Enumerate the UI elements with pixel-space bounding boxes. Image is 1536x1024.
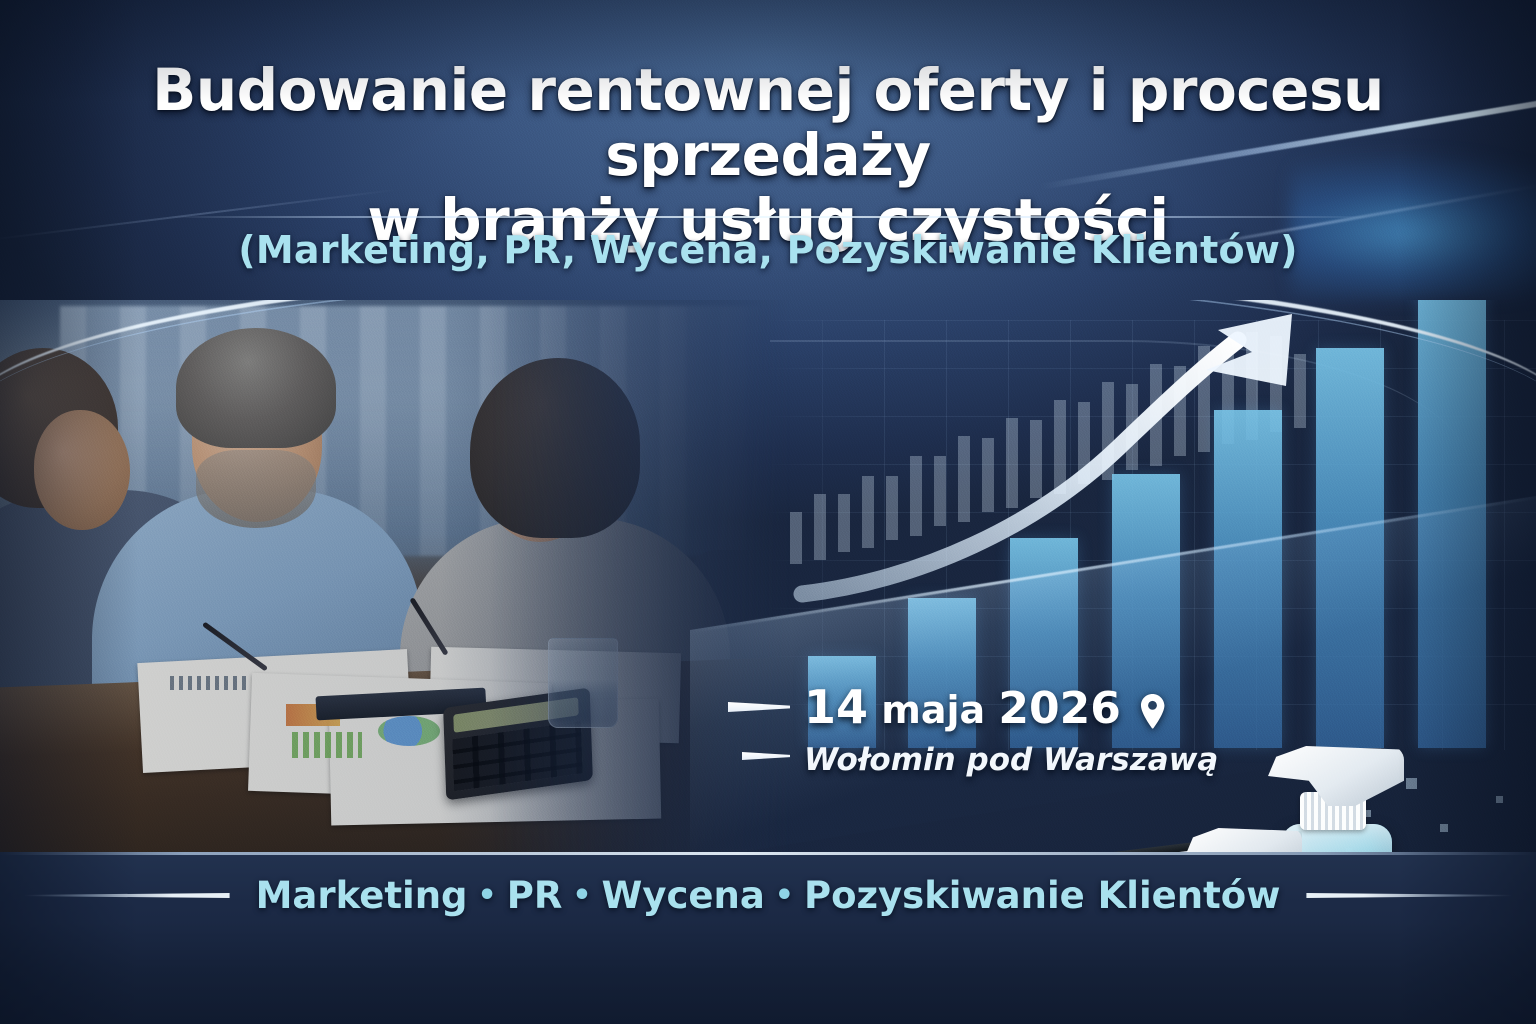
event-year: 2026: [998, 683, 1120, 734]
event-date-row: 14 maja 2026: [728, 680, 1218, 734]
footer-top-divider: [0, 852, 1536, 855]
event-date: 14 maja 2026: [804, 680, 1165, 734]
title-line-1: Budowanie rentownej oferty i procesu spr…: [80, 58, 1456, 188]
top-curved-divider-secondary: [0, 300, 1536, 428]
footer-tag: PR: [507, 874, 563, 917]
page-subtitle: (Marketing, PR, Wycena, Pozyskiwanie Kli…: [0, 228, 1536, 272]
footer-tags: Marketing•PR•Wycena•Pozyskiwanie Klientó…: [256, 874, 1281, 917]
location-pin-icon: [1140, 694, 1165, 729]
footer-tag: Wycena: [602, 874, 765, 917]
footer-separator: •: [468, 878, 507, 913]
footer-separator: •: [562, 878, 601, 913]
promo-banner: Budowanie rentownej oferty i procesu spr…: [0, 0, 1536, 1024]
footer-line-left: [24, 893, 230, 898]
event-location: Wołomin pod Warszawą: [804, 742, 1218, 778]
footer-content: Marketing•PR•Wycena•Pozyskiwanie Klientó…: [0, 874, 1536, 917]
footer-separator: •: [765, 878, 804, 913]
title-divider-rule: [168, 216, 1368, 218]
event-details: 14 maja 2026 Wołomin pod Warszawą: [728, 680, 1218, 778]
event-month: maja: [868, 688, 998, 732]
event-location-row: Wołomin pod Warszawą: [728, 734, 1218, 778]
footer-tag: Marketing: [256, 874, 468, 917]
spray-bottle-clear-trigger: [1186, 828, 1302, 852]
footer-tag: Pozyskiwanie Klientów: [804, 874, 1280, 917]
event-day: 14: [804, 680, 868, 734]
location-dash-mark: [742, 752, 790, 760]
date-dash-mark: [728, 702, 790, 712]
page-title: Budowanie rentownej oferty i procesu spr…: [0, 0, 1536, 253]
footer-line-right: [1306, 893, 1512, 898]
header: Budowanie rentownej oferty i procesu spr…: [0, 0, 1536, 300]
footer-bar: Marketing•PR•Wycena•Pozyskiwanie Klientó…: [0, 852, 1536, 1024]
